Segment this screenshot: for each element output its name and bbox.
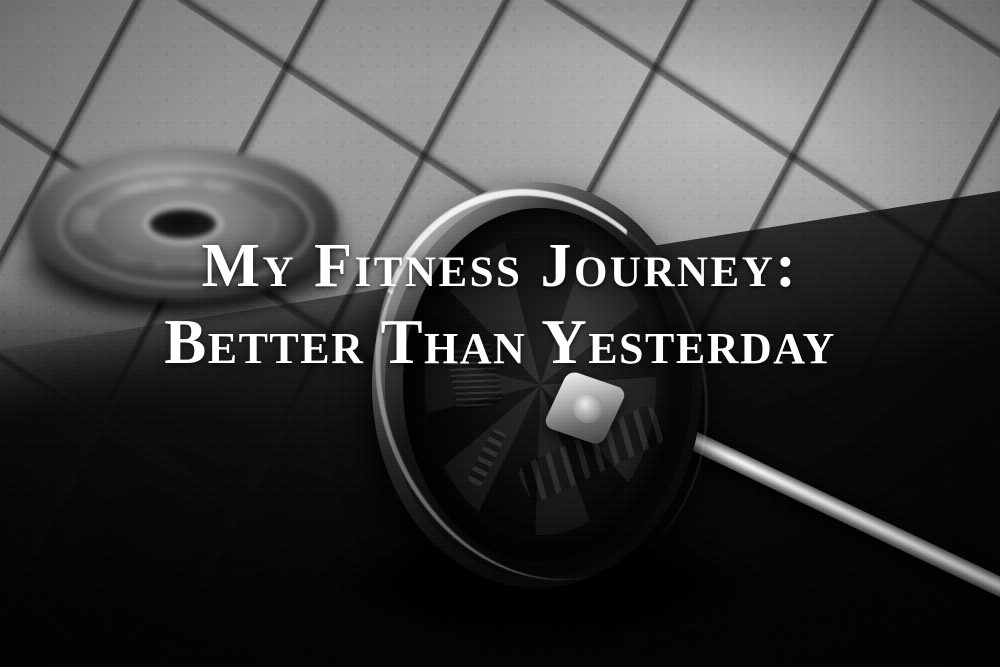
banner-title-line-1: My Fitness Journey: — [0, 228, 1000, 304]
bumper-plate-rim-highlight — [325, 146, 757, 624]
banner-title: My Fitness Journey: Better Than Yesterda… — [0, 228, 1000, 380]
hero-banner: My Fitness Journey: Better Than Yesterda… — [0, 0, 1000, 667]
banner-title-line-2: Better Than Yesterday — [0, 304, 1000, 380]
